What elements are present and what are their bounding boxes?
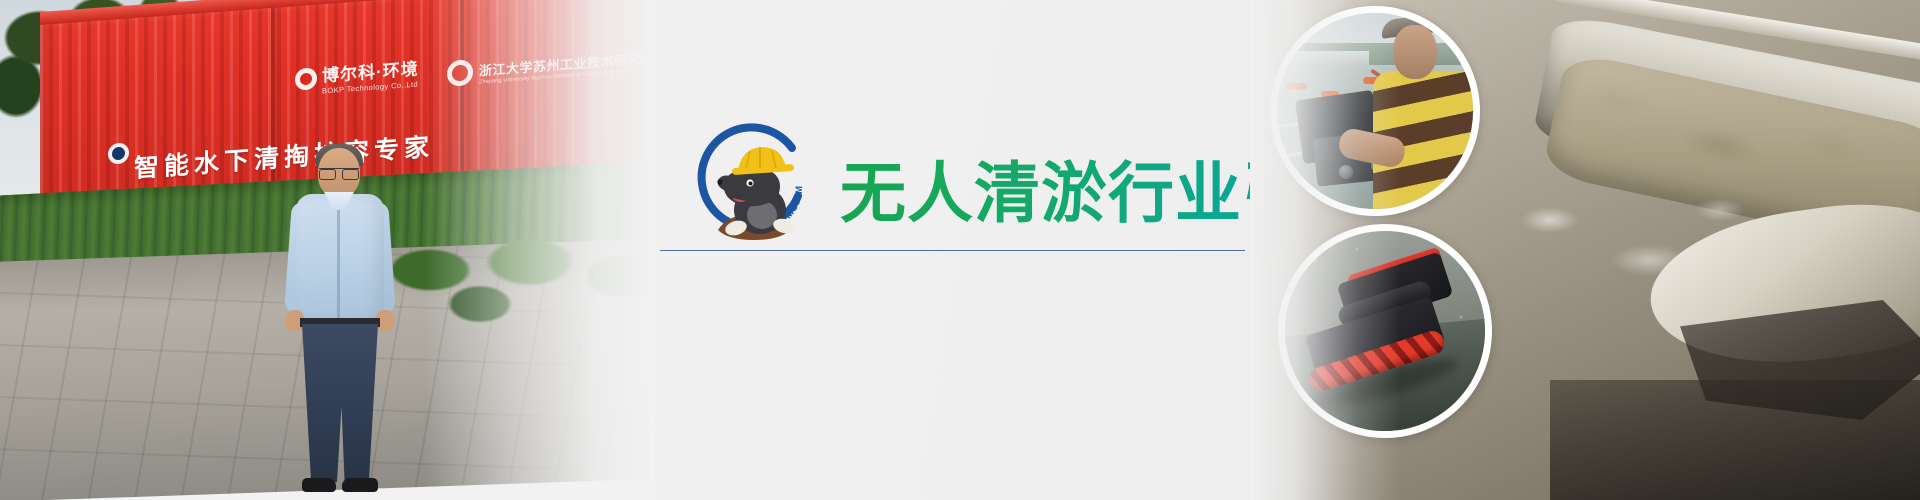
dark-shadow-lower	[1550, 380, 1920, 500]
right-photo	[1250, 0, 1920, 500]
engineer-figure	[280, 148, 400, 500]
shirt-placket	[337, 206, 340, 318]
left-photo-right-fade	[425, 0, 655, 500]
mud-mole-logo-svg: MUD MOLE	[688, 118, 820, 250]
hero-banner: 博尔科·环境 BOKP Technology Co.,Ltd 浙江大学苏州工业技…	[0, 0, 1920, 500]
glasses-icon	[319, 168, 359, 178]
headline-divider	[660, 250, 1245, 251]
center-content: MUD MOLE	[640, 0, 1340, 500]
mud-mole-logo: MUD MOLE	[688, 118, 820, 250]
left-photo: 博尔科·环境 BOKP Technology Co.,Ltd 浙江大学苏州工业技…	[0, 0, 655, 500]
logo-mole-nose	[717, 179, 722, 184]
engineer-left-shoe	[302, 478, 336, 492]
engineer-trousers	[302, 324, 378, 482]
engineer-shirt	[296, 194, 384, 322]
engineer-right-shoe	[342, 478, 378, 492]
logo-mole-pupil	[749, 182, 753, 186]
right-photo-left-fade	[1250, 0, 1400, 500]
